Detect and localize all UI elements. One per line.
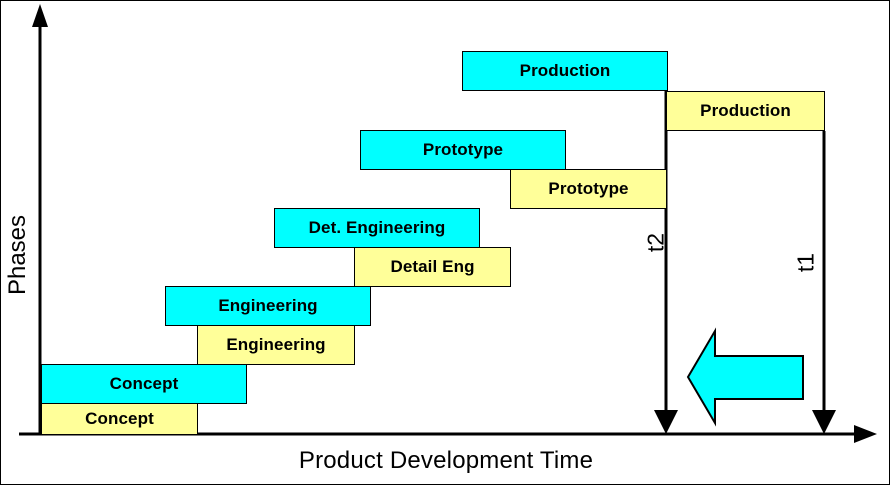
bar-engineering-current[interactable]: Engineering: [165, 286, 371, 326]
diagram-canvas: Production Production Prototype Prototyp…: [0, 0, 890, 485]
bar-prototype-improved[interactable]: Prototype: [510, 169, 667, 209]
time-reduction-arrow-icon: [688, 331, 803, 423]
t2-label: t2: [643, 208, 670, 278]
y-axis-label: Phases: [4, 200, 32, 310]
bar-detail-eng-improved[interactable]: Detail Eng: [354, 247, 511, 287]
bar-engineering-improved[interactable]: Engineering: [197, 325, 355, 365]
bar-concept-current[interactable]: Concept: [41, 364, 247, 404]
bar-det-engineering-current[interactable]: Det. Engineering: [274, 208, 480, 248]
bar-prototype-current[interactable]: Prototype: [360, 130, 566, 170]
bar-concept-improved[interactable]: Concept: [41, 403, 198, 435]
t1-label: t1: [793, 228, 820, 298]
x-axis-label: Product Development Time: [1, 447, 890, 475]
bar-production-current[interactable]: Production: [462, 51, 668, 91]
bar-production-improved[interactable]: Production: [666, 91, 825, 131]
